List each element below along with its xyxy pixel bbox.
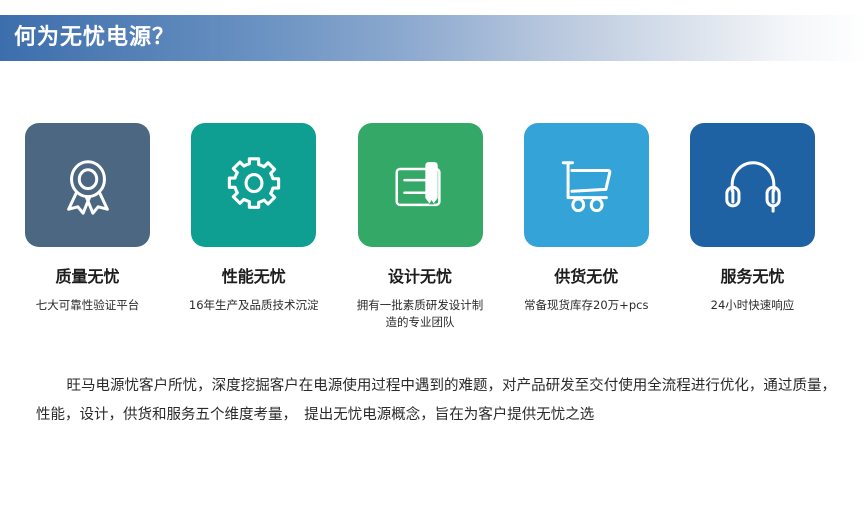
feature-tile-design[interactable] [358,123,483,247]
feature-desc-performance: 16年生产及品质技术沉淀 [189,297,319,314]
feature-desc-quality: 七大可靠性验证平台 [23,297,153,314]
document-pencil-icon [389,154,451,216]
feature-item-performance[interactable]: 性能无忧 16年生产及品质技术沉淀 [191,123,316,332]
feature-tile-service[interactable] [690,123,815,247]
feature-tile-performance[interactable] [191,123,316,247]
award-ribbon-icon [57,154,119,216]
feature-title-quality: 质量无忧 [55,267,119,286]
shopping-cart-icon [555,154,617,216]
page-header-banner: 何为无忧电源？ [0,15,868,61]
headset-icon [722,154,784,216]
feature-item-design[interactable]: 设计无忧 拥有一批素质研发设计制造的专业团队 [358,123,483,332]
feature-title-supply: 供货无优 [554,267,618,286]
feature-desc-design: 拥有一批素质研发设计制造的专业团队 [355,297,485,332]
feature-item-supply[interactable]: 供货无优 常备现货库存20万+pcs [524,123,649,332]
gear-icon [223,154,285,216]
feature-title-design: 设计无忧 [388,267,452,286]
feature-tile-supply[interactable] [524,123,649,247]
feature-desc-service: 24小时快速响应 [688,297,818,314]
feature-title-service: 服务无忧 [720,267,784,286]
body-paragraph: 旺马电源忧客户所忧，深度挖掘客户在电源使用过程中遇到的难题，对产品研发至交付使用… [36,372,836,430]
page-title: 何为无忧电源？ [14,27,175,49]
feature-item-quality[interactable]: 质量无忧 七大可靠性验证平台 [25,123,150,332]
feature-item-service[interactable]: 服务无忧 24小时快速响应 [690,123,815,332]
paragraph-text: 旺马电源忧客户所忧，深度挖掘客户在电源使用过程中遇到的难题，对产品研发至交付使用… [36,378,836,423]
feature-list: 质量无忧 七大可靠性验证平台 性能无忧 16年生产及品质技术沉淀 [25,123,815,332]
feature-tile-quality[interactable] [25,123,150,247]
feature-desc-supply: 常备现货库存20万+pcs [521,297,651,314]
feature-title-performance: 性能无忧 [222,267,286,286]
